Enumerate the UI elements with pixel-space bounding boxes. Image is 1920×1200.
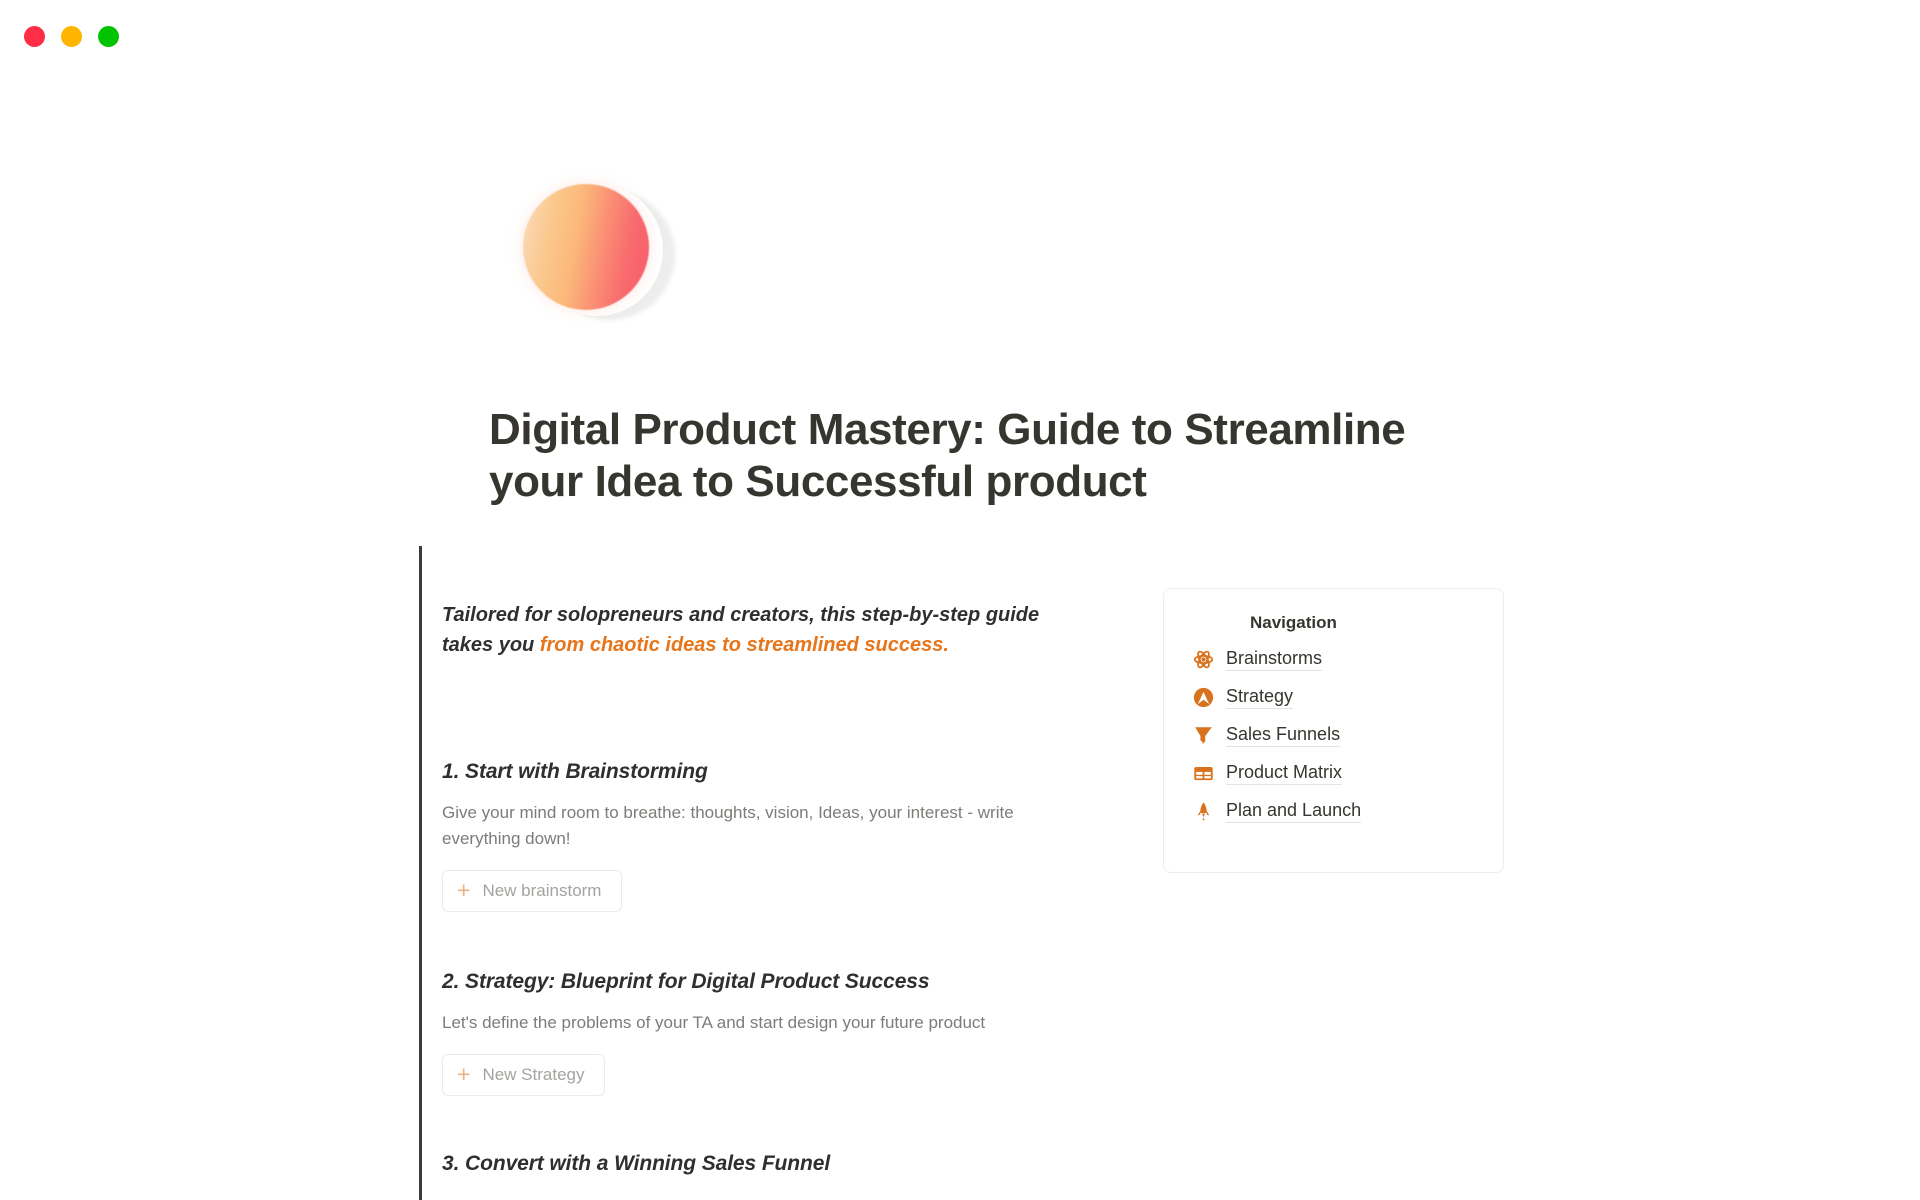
new-strategy-button-label: New Strategy: [482, 1065, 584, 1085]
window-maximize-button[interactable]: [98, 26, 119, 47]
rocket-icon: [1192, 800, 1214, 822]
chevron-circle-up-icon: [1192, 686, 1214, 708]
intro-paragraph: Tailored for solopreneurs and creators, …: [442, 600, 1082, 660]
nav-item-brainstorms[interactable]: Brainstorms: [1192, 645, 1475, 673]
atom-icon: [1192, 648, 1214, 670]
section-title: 3. Convert with a Winning Sales Funnel: [442, 1150, 1122, 1178]
nav-item-plan-and-launch[interactable]: Plan and Launch: [1192, 797, 1475, 825]
nav-item-label: Plan and Launch: [1226, 800, 1361, 823]
window-close-button[interactable]: [24, 26, 45, 47]
intro-highlight-text: from chaotic ideas to streamlined succes…: [540, 634, 949, 656]
window-minimize-button[interactable]: [61, 26, 82, 47]
plus-icon: +: [457, 879, 470, 902]
plus-icon: +: [457, 1063, 470, 1086]
navigation-card-title: Navigation: [1250, 613, 1475, 633]
nav-item-label: Brainstorms: [1226, 648, 1322, 671]
nav-item-label: Sales Funnels: [1226, 724, 1340, 747]
new-brainstorm-button[interactable]: + New brainstorm: [442, 870, 622, 912]
gradient-sphere-icon: [523, 184, 649, 310]
nav-item-label: Product Matrix: [1226, 762, 1342, 785]
section-sales-funnel: 3. Convert with a Winning Sales Funnel: [442, 1150, 1122, 1178]
nav-item-strategy[interactable]: Strategy: [1192, 683, 1475, 711]
nav-item-sales-funnels[interactable]: Sales Funnels: [1192, 721, 1475, 749]
page-title: Digital Product Mastery: Guide to Stream…: [489, 404, 1439, 508]
section-title: 2. Strategy: Blueprint for Digital Produ…: [442, 968, 1122, 996]
table-grid-icon: [1192, 762, 1214, 784]
section-title: 1. Start with Brainstorming: [442, 758, 1122, 786]
new-strategy-button[interactable]: + New Strategy: [442, 1054, 605, 1096]
nav-item-product-matrix[interactable]: Product Matrix: [1192, 759, 1475, 787]
navigation-card: Navigation Brainstorms: [1163, 588, 1504, 873]
nav-item-label: Strategy: [1226, 686, 1293, 709]
section-brainstorming: 1. Start with Brainstorming Give your mi…: [442, 758, 1122, 912]
document-page: Digital Product Mastery: Guide to Stream…: [0, 0, 1920, 1200]
navigation-list: Brainstorms Strategy Sales Funnels: [1192, 645, 1475, 825]
section-strategy: 2. Strategy: Blueprint for Digital Produ…: [442, 968, 1122, 1096]
section-body: Give your mind room to breathe: thoughts…: [442, 800, 1067, 852]
section-body: Let's define the problems of your TA and…: [442, 1010, 1067, 1036]
new-brainstorm-button-label: New brainstorm: [482, 881, 601, 901]
funnel-icon: [1192, 724, 1214, 746]
window-controls: [24, 26, 119, 47]
page-icon[interactable]: [515, 178, 667, 348]
